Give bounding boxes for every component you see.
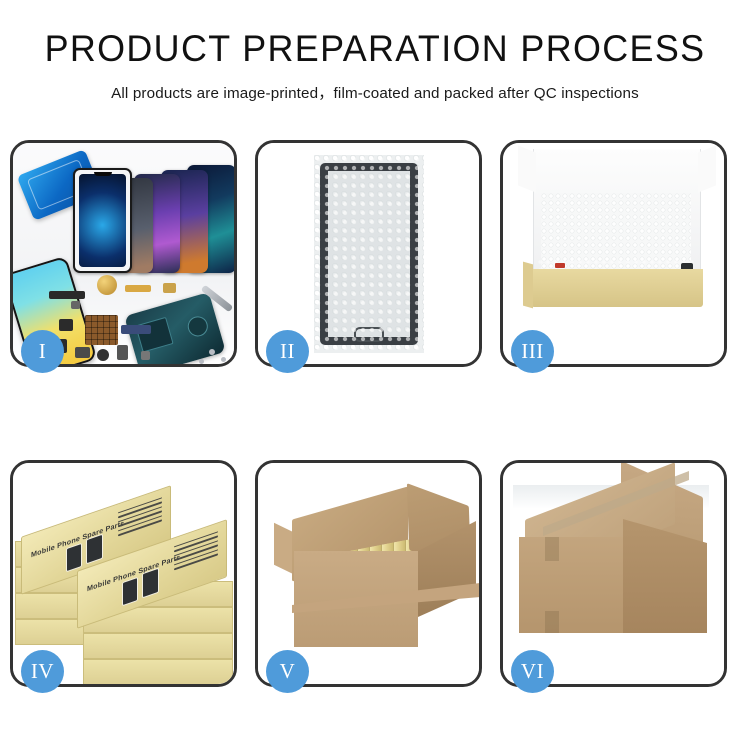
screw-2-icon: [221, 357, 226, 362]
process-step-panel-1: I: [10, 140, 237, 367]
step-badge-2: II: [266, 330, 309, 373]
phone-fan-group: [73, 155, 234, 273]
kraft-tray-icon: [531, 269, 703, 307]
box-art-phone-2: [86, 534, 103, 565]
carton-seam-top-icon: [545, 537, 559, 561]
page-title: PRODUCT PREPARATION PROCESS: [11, 30, 739, 69]
box-art-phone-4: [142, 568, 159, 599]
page-subtitle: All products are image-printed，film-coat…: [0, 81, 750, 103]
sealed-carton-front-face-icon: [519, 537, 623, 633]
small-part-7-icon: [163, 283, 176, 293]
process-step-panel-5: V: [255, 460, 482, 687]
small-part-4-icon: [97, 349, 109, 361]
small-part-8-icon: [71, 301, 80, 309]
coil-component-icon: [97, 275, 117, 295]
step-badge-5: V: [266, 650, 309, 693]
process-step-panel-3: III: [500, 140, 727, 367]
flex-cable-c-icon: [121, 325, 151, 334]
label-sticker-icon: [555, 263, 565, 268]
box-art-phone-1: [66, 543, 82, 573]
flex-cable-b-icon: [125, 285, 151, 292]
step-badge-6: VI: [511, 650, 554, 693]
process-step-panel-4: Mobile Phone Spare Parts Mobile Phone Sp…: [10, 460, 237, 687]
small-part-3-icon: [75, 347, 90, 358]
carton-seam-bottom-icon: [545, 611, 559, 633]
small-part-6-icon: [141, 351, 150, 360]
box-front-face: [83, 633, 233, 659]
page-header: PRODUCT PREPARATION PROCESS All products…: [0, 0, 750, 103]
process-steps-grid: I II III: [10, 140, 740, 687]
screw-1-icon: [209, 349, 215, 355]
small-part-1-icon: [59, 319, 73, 331]
box-spec-lines-rear: [118, 497, 162, 539]
small-part-5-icon: [117, 345, 128, 360]
phone-device-1-icon: [73, 168, 132, 273]
box-art-phone-3: [122, 577, 138, 607]
process-step-panel-6: VI: [500, 460, 727, 687]
phone-screen-icon: [320, 163, 418, 345]
step-badge-4: IV: [21, 650, 64, 693]
flex-cable-a-icon: [49, 291, 85, 299]
screw-3-icon: [199, 359, 204, 364]
process-step-panel-2: II: [255, 140, 482, 367]
phone-notch-icon: [94, 172, 112, 176]
box-spec-lines-front: [174, 531, 218, 573]
chip-array-icon: [85, 315, 118, 345]
box-front-face: [83, 659, 233, 684]
step-badge-3: III: [511, 330, 554, 373]
step-badge-1: I: [21, 330, 64, 373]
